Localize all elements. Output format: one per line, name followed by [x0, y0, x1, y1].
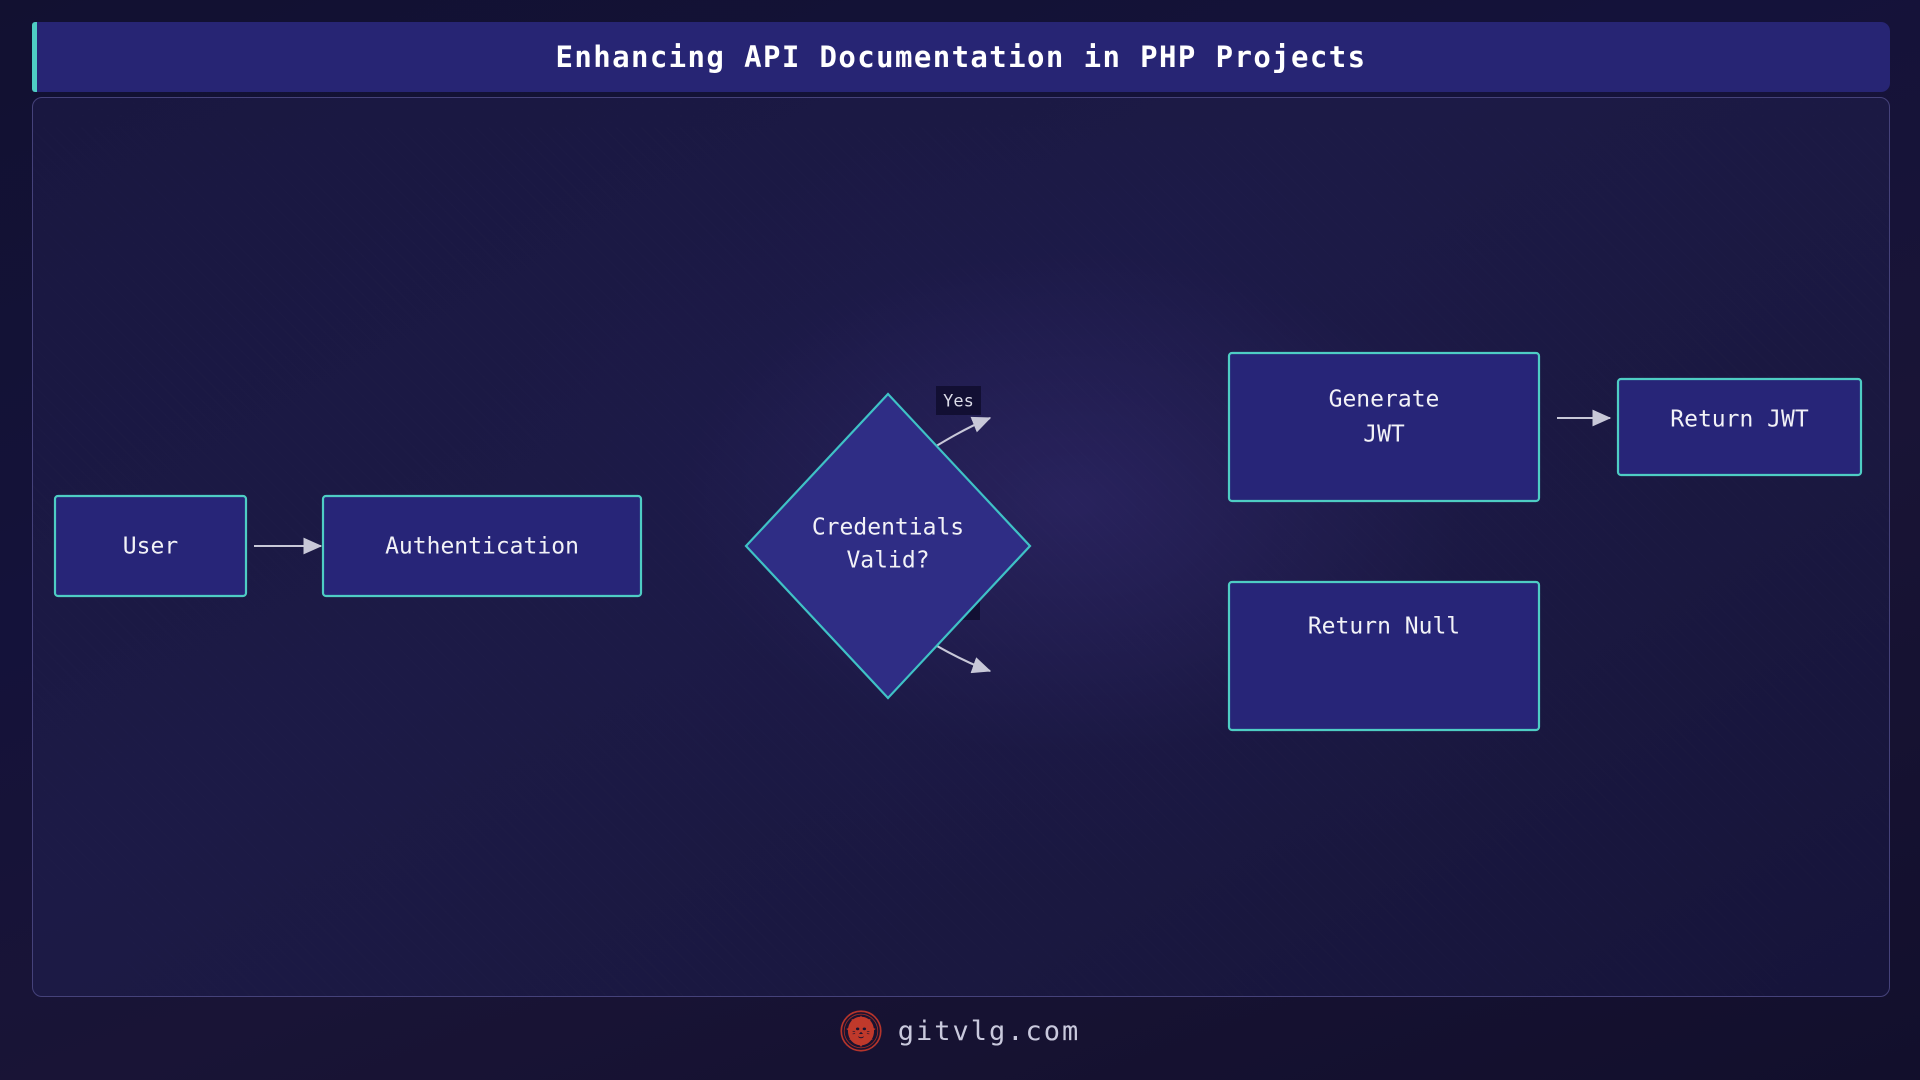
- footer-brand: gitvlg.com: [0, 1010, 1920, 1052]
- node-user-label: User: [123, 534, 178, 560]
- node-credentials-valid[interactable]: Credentials Valid?: [746, 394, 1030, 698]
- node-return-jwt-label: Return JWT: [1670, 407, 1809, 433]
- flowchart-canvas: Yes No User Authentication: [33, 98, 1890, 997]
- diagram-panel: Yes No User Authentication: [32, 97, 1890, 997]
- title-bar: Enhancing API Documentation in PHP Proje…: [32, 22, 1890, 92]
- node-return-null[interactable]: Return Null: [1229, 582, 1539, 730]
- brand-name: gitvlg.com: [898, 1016, 1081, 1047]
- edge-label-yes: Yes: [943, 392, 974, 412]
- node-generate-jwt[interactable]: Generate JWT: [1229, 353, 1539, 501]
- lion-head-logo-icon: [840, 1010, 882, 1052]
- node-credentials-valid-label-line2: Valid?: [846, 548, 929, 574]
- node-user[interactable]: User: [55, 496, 246, 596]
- screenshot-root: Enhancing API Documentation in PHP Proje…: [0, 0, 1920, 1080]
- title-accent-bar: [32, 22, 37, 92]
- node-generate-jwt-label-line1: Generate: [1329, 387, 1440, 413]
- node-return-null-label: Return Null: [1308, 614, 1460, 640]
- node-authentication-label: Authentication: [385, 534, 579, 560]
- node-credentials-valid-label-line1: Credentials: [812, 515, 964, 541]
- node-credentials-valid-shape: [746, 394, 1030, 698]
- page-title: Enhancing API Documentation in PHP Proje…: [556, 40, 1367, 74]
- node-return-null-shape: [1229, 582, 1539, 730]
- node-generate-jwt-label-line2: JWT: [1363, 422, 1405, 448]
- node-authentication[interactable]: Authentication: [323, 496, 641, 596]
- node-return-jwt[interactable]: Return JWT: [1618, 379, 1861, 475]
